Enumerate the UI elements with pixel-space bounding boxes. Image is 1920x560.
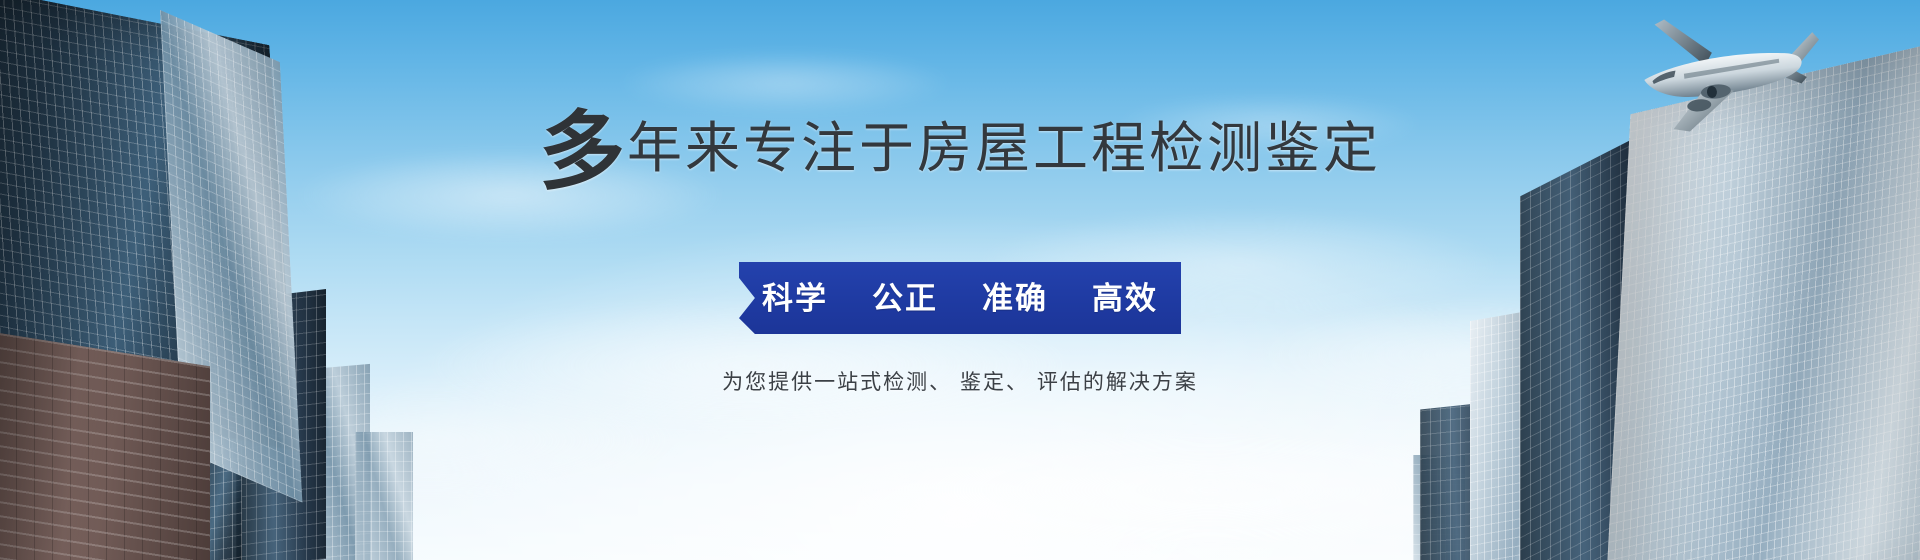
slogan-word-4: 高效: [1092, 283, 1158, 314]
slogan-word-2: 公正: [872, 283, 938, 314]
slogan-ribbon-wrapper: 科学 公正 准确 高效: [0, 262, 1920, 334]
cloud-decoration: [180, 380, 680, 500]
hero-banner: 多 年来专注于房屋工程检测鉴定 科学 公正 准确 高效 为您提供一站式检测、 鉴…: [0, 0, 1920, 560]
page-title: 多 年来专注于房屋工程检测鉴定: [0, 108, 1920, 188]
banner-subtitle: 为您提供一站式检测、 鉴定、 评估的解决方案: [0, 368, 1920, 397]
slogan-word-1: 科学: [762, 283, 828, 314]
slogan-word-3: 准确: [982, 283, 1048, 314]
headline-emphasis-char: 多: [539, 109, 625, 195]
headline-rest-text: 年来专注于房屋工程检测鉴定: [627, 121, 1381, 176]
cloud-decoration: [620, 52, 950, 114]
slogan-ribbon: 科学 公正 准确 高效: [739, 262, 1181, 334]
cloud-decoration: [860, 430, 1560, 550]
